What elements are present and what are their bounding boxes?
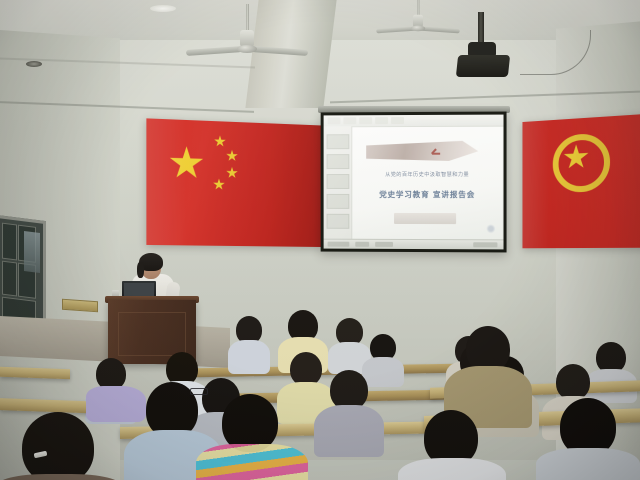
student-torso bbox=[314, 405, 384, 457]
speaker-hair bbox=[137, 262, 144, 278]
flag-star-small bbox=[226, 150, 238, 162]
fan-hub bbox=[237, 45, 257, 53]
window-pane bbox=[2, 223, 17, 261]
slide-thumbnail[interactable] bbox=[327, 194, 350, 209]
slide-canvas: 从党的百年历史中汲取智慧和力量 党史学习教育 宣讲报告会 bbox=[352, 127, 502, 240]
ribbon-tab[interactable] bbox=[359, 117, 372, 124]
fan-rod bbox=[246, 4, 249, 32]
fan-hub bbox=[411, 26, 425, 32]
status-chip bbox=[375, 242, 393, 247]
slide-footer-graphic bbox=[394, 213, 456, 224]
slide-thumbnail[interactable] bbox=[327, 154, 350, 169]
communist-youth-league-flag bbox=[522, 114, 640, 249]
student-torso bbox=[398, 458, 506, 480]
student-torso bbox=[196, 444, 308, 480]
ceiling-light bbox=[150, 5, 176, 12]
student-torso bbox=[86, 386, 146, 422]
student-head bbox=[290, 352, 322, 386]
projector-lens bbox=[26, 61, 42, 67]
flag-star-small bbox=[214, 135, 226, 147]
flag-shading bbox=[146, 118, 322, 247]
status-chip bbox=[328, 242, 350, 247]
slide-thumbnail-panel[interactable] bbox=[324, 126, 353, 240]
projector-rod bbox=[478, 12, 484, 46]
projector-body bbox=[456, 55, 510, 77]
lecture-hall-photo: 从党的百年历史中汲取智慧和力量 党史学习教育 宣讲报告会 bbox=[0, 0, 640, 480]
slide-thumbnail[interactable] bbox=[327, 174, 350, 189]
window-pane bbox=[2, 261, 17, 297]
slide-subheading: 党史学习教育 宣讲报告会 bbox=[352, 189, 502, 200]
ribbon-tab[interactable] bbox=[375, 117, 388, 124]
student-head bbox=[556, 364, 590, 400]
slide-thumbnail[interactable] bbox=[327, 214, 350, 229]
podium-panel bbox=[118, 312, 186, 356]
student-head bbox=[330, 370, 368, 410]
ribbon-tab[interactable] bbox=[328, 117, 341, 124]
student-torso bbox=[536, 448, 640, 480]
ribbon-tab[interactable] bbox=[391, 117, 404, 124]
flag-star-small bbox=[226, 167, 238, 179]
slide-heading: 从党的百年历史中汲取智慧和力量 bbox=[352, 171, 502, 178]
flag-star-small bbox=[213, 178, 225, 190]
status-chip bbox=[473, 242, 497, 247]
laptop-screen bbox=[124, 283, 154, 296]
slide-banner-graphic bbox=[366, 141, 478, 161]
glasses-icon bbox=[190, 388, 208, 395]
slide-thumbnail[interactable] bbox=[327, 134, 350, 149]
student-torso bbox=[228, 340, 270, 374]
flag-star-large bbox=[169, 146, 204, 181]
student-head bbox=[22, 412, 94, 480]
slide-watermark bbox=[486, 224, 495, 233]
striped-pattern bbox=[196, 444, 308, 480]
projection-screen: 从党的百年历史中汲取智慧和力量 党史学习教育 宣讲报告会 bbox=[321, 112, 507, 253]
chinese-national-flag bbox=[146, 118, 322, 247]
status-chip bbox=[355, 242, 369, 247]
student-torso bbox=[362, 357, 404, 387]
presentation-statusbar bbox=[324, 239, 504, 250]
screen-surface: 从党的百年历史中汲取智慧和力量 党史学习教育 宣讲报告会 bbox=[324, 115, 504, 250]
window-light bbox=[24, 231, 40, 273]
ribbon-tab[interactable] bbox=[343, 117, 356, 124]
